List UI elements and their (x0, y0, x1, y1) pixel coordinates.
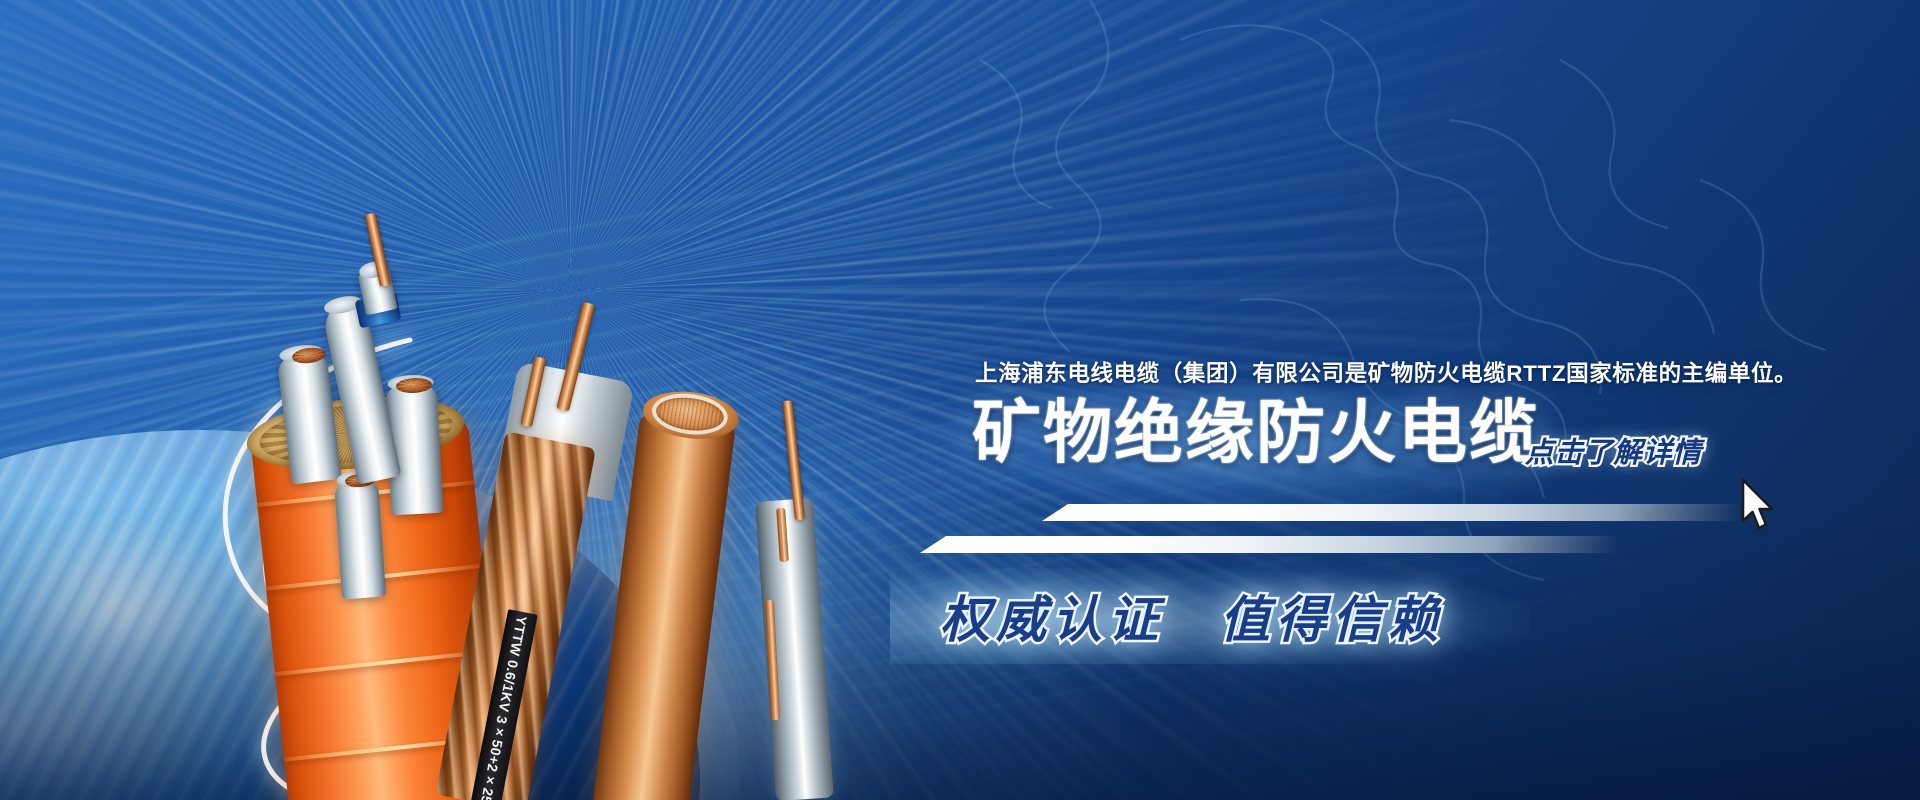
divider-bar-lower (920, 536, 1620, 553)
diagonal-streaks (0, 0, 1920, 800)
conductor-core-1 (291, 346, 327, 365)
braided-cable-head (496, 361, 635, 501)
page-title: 矿物绝缘防火电缆 (972, 398, 1540, 467)
headline-wrapper: 矿物绝缘防火电缆 (972, 398, 1540, 467)
conductor-tube-1 (276, 349, 341, 484)
solid-copper-cross-section (640, 386, 741, 443)
conductor-tube-2 (334, 477, 386, 600)
solid-copper-core (654, 394, 725, 434)
thin-cable-core-a (776, 508, 789, 562)
globe-halo (0, 400, 740, 800)
globe-rim-shading (0, 430, 700, 800)
learn-more-button[interactable]: 点击了解详情 (1525, 430, 1702, 471)
braid-core-rod-a (556, 302, 595, 412)
conductor-tube-3 (385, 381, 444, 516)
single-core-ferrule (357, 266, 397, 316)
mouse-cursor-icon (1740, 478, 1778, 534)
conductor-core-2 (345, 473, 376, 488)
world-map-icon (0, 0, 1920, 800)
cable-spec-label: YTTW 0.6/1KV 3×50+2×25 (470, 609, 538, 800)
divider-bar-upper (1042, 504, 1742, 521)
copper-conductor-rod (365, 212, 391, 287)
thin-cable-core-b (765, 600, 780, 720)
earth-globe-icon (0, 430, 700, 800)
cable-product-photo: YTTW 0.6/1KV 3×50+2×25 (0, 0, 1000, 800)
energy-swirl-icon (110, 300, 750, 800)
orange-cable-cross-section (243, 387, 467, 479)
solid-copper-cable (592, 414, 736, 800)
single-core-cable-body (321, 299, 401, 484)
thin-cable-tip-rod (782, 400, 804, 520)
braided-copper-cable (435, 431, 596, 800)
blue-insulation-band (355, 292, 402, 328)
decorative-divider (880, 500, 1780, 572)
trust-slogan: 权威认证 值得信赖 (940, 580, 1444, 652)
globe-ocean-texture (0, 430, 700, 800)
hero-banner: YTTW 0.6/1KV 3×50+2×25 上海浦东电线电缆（集团）有限公司是… (0, 0, 1920, 800)
orange-cable-body (251, 419, 510, 800)
braid-core-rod-b (520, 356, 546, 427)
thin-multicore-cable (755, 498, 834, 800)
conductor-core-3 (396, 377, 433, 394)
company-tagline: 上海浦东电线电缆（集团）有限公司是矿物防火电缆RTTZ国家标准的主编单位。 (975, 356, 1797, 388)
center-glow (300, 470, 920, 800)
cable-spec-text: YTTW 0.6/1KV 3×50+2×25 (478, 615, 530, 800)
orange-cable-filler-ring (256, 394, 455, 472)
